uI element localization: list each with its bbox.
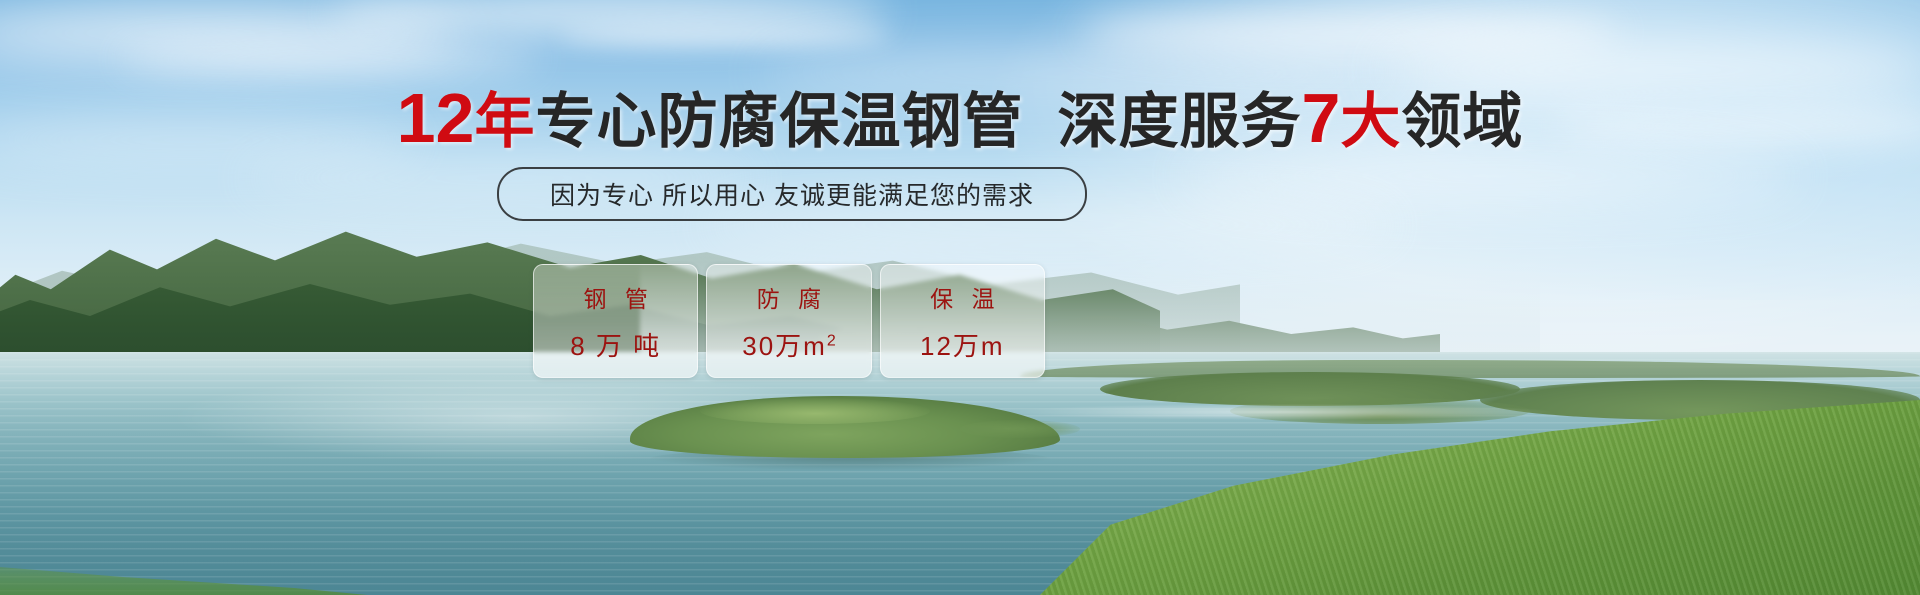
headline-service-phrase: 深度服务 xyxy=(1057,88,1301,155)
subtitle-pill: 因为专心 所以用心 友诚更能满足您的需求 xyxy=(497,167,1087,221)
stat-card-title: 钢 管 xyxy=(577,280,653,314)
headline-fields-word: 领域 xyxy=(1401,88,1523,155)
headline-fields-number: 7 xyxy=(1301,79,1340,157)
stat-card-value-text: 30万m xyxy=(742,331,827,361)
stat-card-value-superscript: 2 xyxy=(827,332,836,349)
banner-headline: 12年专心防腐保温钢管深度服务7大领域 xyxy=(0,84,1920,156)
stat-card-steel-pipe[interactable]: 钢 管 8 万 吨 xyxy=(533,264,698,378)
headline-fields-unit: 大 xyxy=(1340,88,1401,155)
hero-banner: 12年专心防腐保温钢管深度服务7大领域 因为专心 所以用心 友诚更能满足您的需求… xyxy=(0,0,1920,595)
stat-card-title: 保 温 xyxy=(924,280,1000,314)
stat-card-anticorrosion[interactable]: 防 腐 30万m2 xyxy=(706,264,871,378)
headline-years-number: 12 xyxy=(397,79,475,157)
stat-card-group: 钢 管 8 万 吨 防 腐 30万m2 保 温 12万m xyxy=(533,264,1045,376)
stat-card-title: 防 腐 xyxy=(751,280,827,314)
headline-years-unit: 年 xyxy=(474,88,535,155)
stat-card-value: 12万m xyxy=(920,326,1005,363)
stat-card-insulation[interactable]: 保 温 12万m xyxy=(880,264,1045,378)
stat-card-value: 30万m2 xyxy=(742,326,836,363)
stat-card-value-text: 8 万 吨 xyxy=(570,331,661,361)
stat-card-value: 8 万 吨 xyxy=(570,326,661,363)
subtitle-text: 因为专心 所以用心 友诚更能满足您的需求 xyxy=(550,176,1034,212)
lake-water xyxy=(0,352,1920,595)
stat-card-value-text: 12万m xyxy=(920,331,1005,361)
headline-main-phrase: 专心防腐保温钢管 xyxy=(535,88,1023,155)
